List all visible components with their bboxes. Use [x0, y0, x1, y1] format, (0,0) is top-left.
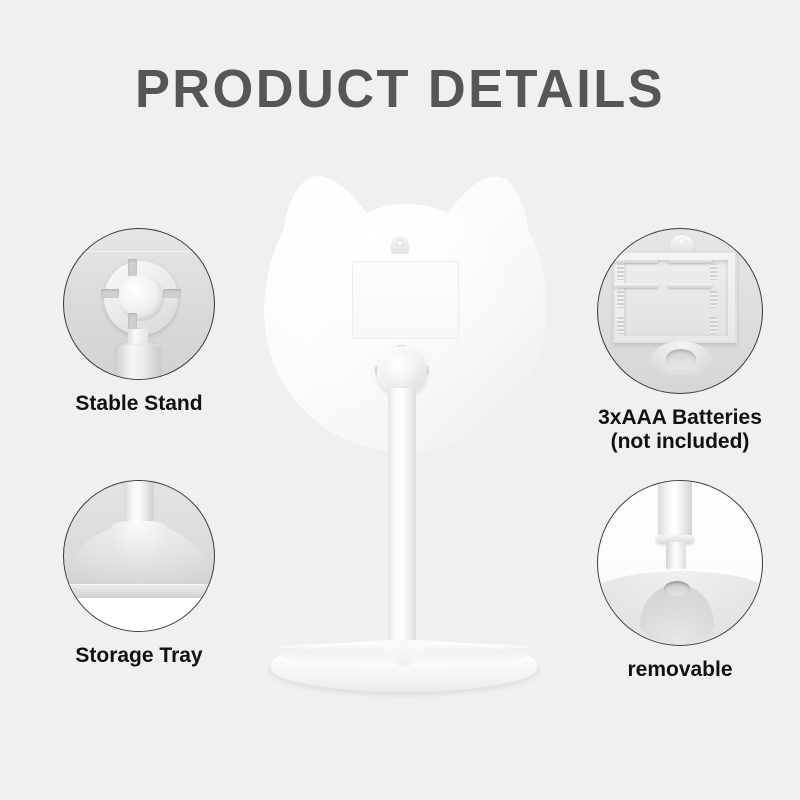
battery-latch-dot: [679, 239, 684, 244]
tray-underside: [64, 598, 214, 632]
hinge-notch-left: [101, 289, 119, 298]
product-details-page: PRODUCT DETAILS Stable Stand Storage Tra…: [0, 0, 800, 800]
stable-stand-image: [63, 228, 215, 380]
product-hinge-ball: [386, 355, 418, 387]
battery-slot-divider-4: [668, 283, 712, 288]
battery-spring-contact-3: [617, 291, 624, 308]
battery-spring-contact-5: [617, 317, 624, 334]
hinge-collar: [116, 345, 160, 380]
hinge-notch-right: [163, 289, 181, 298]
battery-door-latch-dot: [397, 240, 403, 246]
tray-rim-band: [64, 585, 214, 598]
hinge-notch-top: [128, 259, 137, 276]
removable-image: [597, 480, 763, 646]
battery-spring-contact-2: [710, 263, 717, 280]
callout-label-batteries-sub: (not included): [597, 430, 763, 454]
page-title: PRODUCT DETAILS: [12, 58, 788, 120]
callout-label-removable: removable: [597, 658, 763, 682]
callout-label-batteries: 3xAAA Batteries (not included): [597, 406, 763, 454]
callout-label-batteries-main: 3xAAA Batteries: [598, 406, 762, 429]
removable-pole-body: [658, 480, 692, 541]
callout-storage-tray: Storage Tray: [63, 480, 215, 668]
storage-tray-image: [63, 480, 215, 632]
removable-pole-tip: [666, 542, 686, 570]
battery-door-panel[interactable]: [352, 261, 459, 339]
product-storage-tray: [271, 640, 537, 698]
hinge-ball-icon: [118, 275, 164, 321]
battery-spring-contact-6: [710, 317, 717, 334]
callout-batteries: 3xAAA Batteries (not included): [597, 228, 763, 454]
battery-slot-divider-3: [614, 283, 658, 288]
background-seam: [64, 251, 214, 252]
callout-removable: removable: [597, 480, 763, 682]
battery-bay-foot-socket: [666, 349, 696, 369]
product-support-pole: [388, 388, 416, 673]
product-image: [255, 160, 555, 705]
battery-bay-outer: [613, 251, 737, 343]
battery-spring-contact-1: [617, 263, 624, 280]
callout-stable-stand: Stable Stand: [63, 228, 215, 416]
callout-label-stable-stand: Stable Stand: [63, 392, 215, 416]
battery-compartment-image: [597, 228, 763, 394]
battery-slot-divider-2: [668, 258, 712, 263]
removable-socket-hole: [664, 581, 690, 596]
battery-spring-contact-4: [710, 291, 717, 308]
callout-label-storage-tray: Storage Tray: [63, 644, 215, 668]
